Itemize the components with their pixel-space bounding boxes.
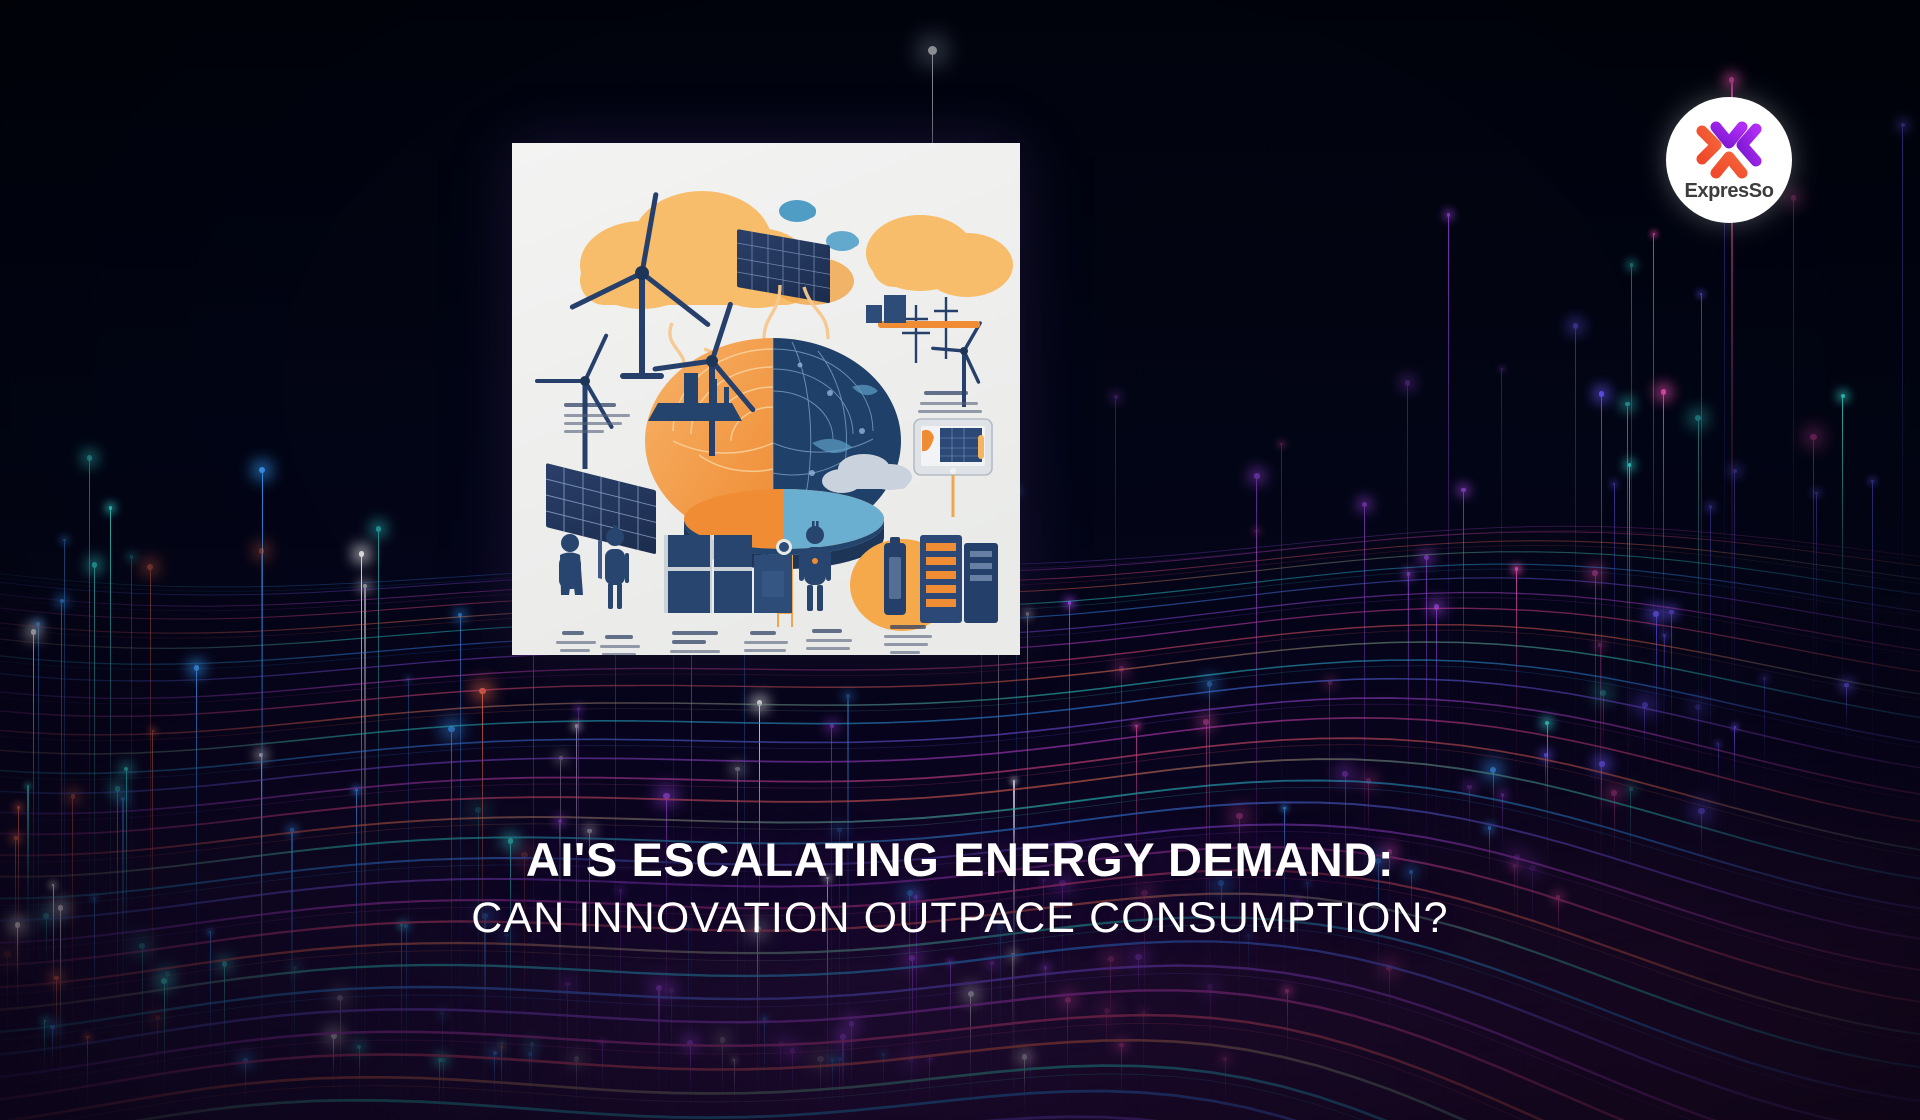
infographic-illustration xyxy=(512,143,1020,655)
pillar-glow-dot xyxy=(87,455,93,461)
wave-line xyxy=(0,698,1920,807)
x-mark-icon xyxy=(1694,121,1764,179)
pillar-glow-dot xyxy=(1625,402,1630,407)
wave-line xyxy=(0,642,1920,731)
brand-name: ExpresSo xyxy=(1684,180,1773,203)
wave-line xyxy=(0,870,1920,1045)
pillar-glow-dot xyxy=(1114,395,1118,399)
pillar-glow-dot xyxy=(1810,434,1817,441)
wave-line xyxy=(0,787,1920,927)
pillar-glow-dot xyxy=(1254,473,1260,479)
wave-line xyxy=(0,666,1920,762)
pillar-glow-dot xyxy=(1733,469,1737,473)
wave-line xyxy=(0,894,1920,1078)
pillar-glow-dot xyxy=(1447,213,1450,216)
pillar-glow-dot xyxy=(1405,380,1410,385)
pillar-glow-dot xyxy=(1501,368,1503,370)
pillar-glow-dot xyxy=(1630,263,1634,267)
pillar-glow-dot xyxy=(1700,293,1703,296)
wave-line xyxy=(0,1091,1920,1120)
wave-line xyxy=(0,1117,1920,1120)
pillar-glow-dot xyxy=(1841,394,1845,398)
pillar-glow-dot xyxy=(1661,389,1666,394)
pillar-glow-dot xyxy=(1791,195,1797,201)
pillar-glow-dot xyxy=(1599,391,1604,396)
pillar-glow-dot xyxy=(1729,77,1734,82)
pillar-glow-dot xyxy=(1613,483,1616,486)
pillar-glow-dot xyxy=(1280,443,1283,446)
pillar-glow-dot xyxy=(259,467,265,473)
pillar-glow-dot xyxy=(1461,488,1465,492)
pillar-glow-dot xyxy=(928,46,937,55)
battery-unit xyxy=(884,537,906,615)
server-rack xyxy=(920,535,998,623)
pillar-glow-dot xyxy=(1653,233,1655,235)
pillar-glow-dot xyxy=(1901,123,1905,127)
infographic-card[interactable] xyxy=(512,143,1020,655)
wave-line xyxy=(0,877,1920,1052)
wave-line xyxy=(0,1065,1920,1120)
tablet-dashboard xyxy=(914,419,992,475)
brand-logo[interactable]: ExpresSo xyxy=(1666,97,1792,223)
wave-line xyxy=(0,1023,1920,1120)
wave-line xyxy=(0,1015,1920,1120)
pillar-glow-dot xyxy=(1573,323,1579,329)
wave-line xyxy=(0,941,1920,1120)
pillar-glow-dot xyxy=(1871,480,1874,483)
poster-canvas: ExpresSo AI'S ESCALATING ENERGY DEMAND: … xyxy=(0,0,1920,1120)
wave-line xyxy=(0,824,1920,981)
